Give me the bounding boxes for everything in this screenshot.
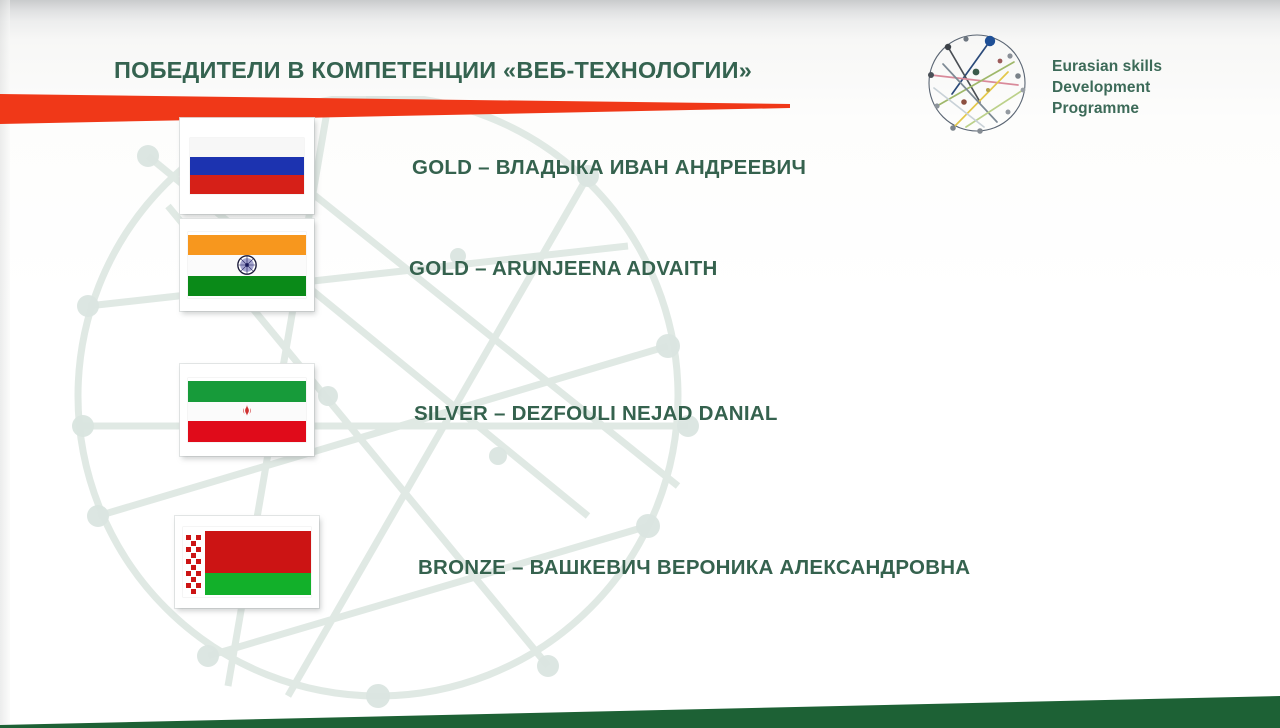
- flag-belarus-card: [175, 516, 319, 608]
- flag-india: [188, 232, 306, 298]
- logo-line-3: Programme: [1052, 98, 1162, 119]
- winner-row: GOLD – ВЛАДЫКА ИВАН АНДРЕЕВИЧ: [0, 118, 1280, 218]
- logo-line-1: Eurasian skills: [1052, 56, 1162, 77]
- logo-line-2: Development: [1052, 77, 1162, 98]
- winner-label: BRONZE – ВАШКЕВИЧ ВЕРОНИКА АЛЕКСАНДРОВНА: [418, 556, 970, 580]
- flag-stripe-white: [190, 138, 304, 157]
- flag-russia: [190, 138, 304, 194]
- flag-india-card: [180, 219, 314, 311]
- winner-row: SILVER – DEZFOULI NEJAD DANIAL: [0, 364, 1280, 460]
- flag-belarus: [183, 527, 311, 597]
- winner-row: BRONZE – ВАШКЕВИЧ ВЕРОНИКА АЛЕКСАНДРОВНА: [0, 516, 1280, 612]
- flag-iran-card: [180, 364, 314, 456]
- belarus-ornament-icon: [183, 527, 205, 597]
- flag-stripe-green: [188, 381, 306, 402]
- flag-stripe-red: [190, 175, 304, 194]
- winner-label: GOLD – ВЛАДЫКА ИВАН АНДРЕЕВИЧ: [412, 156, 806, 180]
- winner-label: GOLD – ARUNJEENA ADVAITH: [409, 257, 718, 281]
- page-title: ПОБЕДИТЕЛИ В КОМПЕТЕНЦИИ «ВЕБ-ТЕХНОЛОГИИ…: [114, 57, 752, 84]
- winner-row: GOLD – ARUNJEENA ADVAITH: [0, 219, 1280, 314]
- presentation-slide: ПОБЕДИТЕЛИ В КОМПЕТЕНЦИИ «ВЕБ-ТЕХНОЛОГИИ…: [0, 0, 1280, 728]
- flag-stripe-green: [188, 276, 306, 296]
- flag-stripe-blue: [190, 157, 304, 176]
- flag-stripe-saffron: [188, 235, 306, 255]
- green-accent-wedge: [0, 668, 1280, 728]
- logo-text: Eurasian skills Development Programme: [1052, 56, 1162, 119]
- flag-stripe-red: [188, 421, 306, 442]
- winner-label: SILVER – DEZFOULI NEJAD DANIAL: [414, 402, 778, 426]
- frame-top-band: [0, 0, 1280, 22]
- ashoka-chakra-icon: [237, 255, 257, 275]
- flag-iran: [188, 378, 306, 442]
- iran-emblem-icon: [240, 403, 255, 418]
- flag-russia-card: [180, 118, 314, 214]
